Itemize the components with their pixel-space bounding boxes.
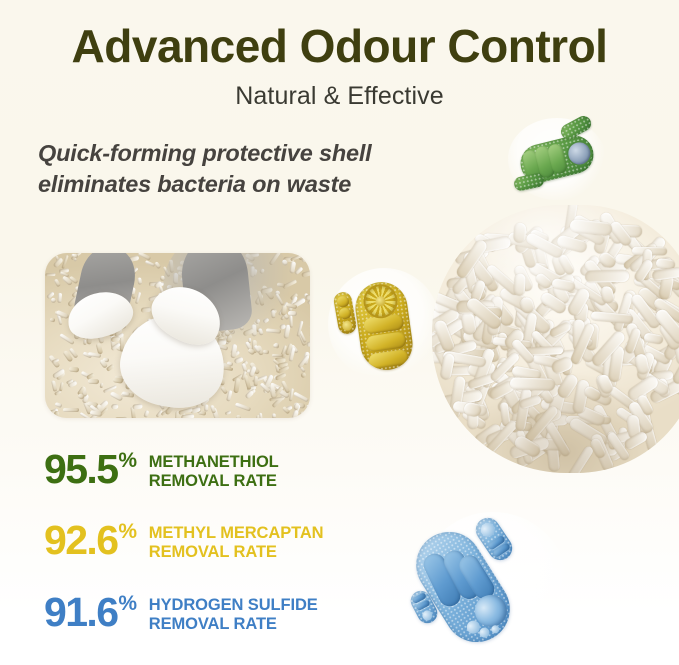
stat-label: HYDROGEN SULFIDE REMOVAL RATE [149, 596, 318, 635]
litter-grain [114, 417, 126, 418]
stat-row: 91.6% HYDROGEN SULFIDE REMOVAL RATE [44, 593, 318, 635]
litter-grain [271, 414, 276, 418]
litter-grain [88, 379, 99, 384]
green-bacteria-illustration [508, 118, 606, 200]
litter-pellet [513, 222, 526, 243]
infographic-canvas: Advanced Odour Control Natural & Effecti… [0, 0, 679, 665]
litter-pellet [567, 444, 595, 473]
stat-value: 92.6% [44, 521, 136, 560]
stat-number: 92.6 [44, 517, 117, 563]
stat-unit: % [118, 592, 136, 615]
stat-unit: % [118, 449, 136, 472]
stat-number: 91.6 [44, 589, 117, 635]
stat-label: METHYL MERCAPTAN REMOVAL RATE [149, 524, 324, 563]
litter-grain [308, 259, 310, 265]
yellow-bacteria-illustration [328, 268, 440, 380]
stat-unit: % [118, 520, 136, 543]
litter-pellet [514, 273, 526, 295]
stat-value: 95.5% [44, 450, 136, 489]
litter-grain [63, 408, 79, 412]
page-title: Advanced Odour Control [0, 22, 679, 70]
litter-grain [69, 366, 79, 372]
litter-grain [45, 273, 56, 277]
stat-label: METHANETHIOL REMOVAL RATE [149, 453, 279, 492]
litter-grain [305, 293, 310, 300]
litter-grain [57, 293, 62, 303]
litter-pellet [510, 378, 555, 391]
stat-row: 92.6% METHYL MERCAPTAN REMOVAL RATE [44, 521, 324, 563]
pellet-mound-image [432, 205, 679, 473]
blue-bacteria-illustration [418, 512, 568, 660]
stat-number: 95.5 [44, 446, 117, 492]
litter-grain [272, 354, 283, 357]
stat-row: 95.5% METHANETHIOL REMOVAL RATE [44, 450, 279, 492]
stat-value: 91.6% [44, 593, 136, 632]
cat-paw-photo [45, 253, 310, 418]
page-subtitle: Natural & Effective [0, 82, 679, 111]
litter-grain [254, 376, 258, 386]
litter-pellet [585, 270, 629, 283]
lede-text: Quick-forming protective shell eliminate… [38, 138, 398, 200]
